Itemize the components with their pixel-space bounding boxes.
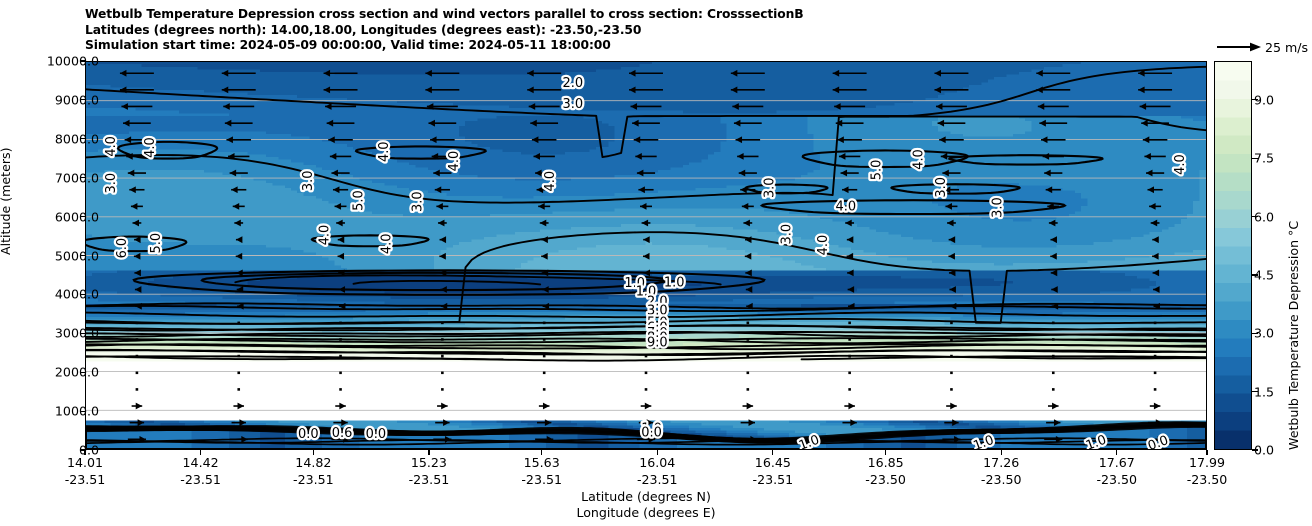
x-axis-tick: 16.04-23.51 xyxy=(637,455,678,488)
wind-vector-key: 25 m/s xyxy=(1213,38,1312,58)
x-axis-tick: 17.99-23.50 xyxy=(1187,455,1228,488)
x-axis-tick: 15.23-23.51 xyxy=(409,455,450,488)
colorbar-tick-mark xyxy=(1252,158,1258,159)
y-axis-tick-mark xyxy=(80,333,85,334)
x-axis-tick-mark xyxy=(1206,450,1207,455)
contour-label: 3.0 xyxy=(104,173,119,194)
y-axis-label: Altitude (meters) xyxy=(0,148,13,255)
x-axis-tick: 16.85-23.50 xyxy=(865,455,906,488)
x-axis-tick: 17.26-23.50 xyxy=(981,455,1022,488)
contour-label: 6.0 xyxy=(115,238,130,259)
contour-label: 4.0 xyxy=(318,225,333,246)
contour-label: 4.0 xyxy=(143,137,158,158)
x-axis-tick-mark xyxy=(772,450,773,455)
contour-label: 4.0 xyxy=(447,151,462,172)
x-axis-tick-mark xyxy=(541,450,542,455)
contour-label: 5.0 xyxy=(149,233,164,254)
colorbar-tick-mark xyxy=(1252,449,1258,450)
colorbar-tick-mark xyxy=(1252,99,1258,100)
y-axis-tick: 3000.0 xyxy=(55,326,99,341)
y-axis-tick: 9000.0 xyxy=(55,92,99,107)
contour-label: 4.0 xyxy=(911,149,926,170)
colorbar-gradient xyxy=(1215,62,1251,449)
x-axis-tick-mark xyxy=(657,450,658,455)
y-axis-tick: 2000.0 xyxy=(55,365,99,380)
contour-label: 4.0 xyxy=(104,136,119,157)
y-axis-tick-mark xyxy=(80,60,85,61)
x-axis-label-longitude: Longitude (degrees E) xyxy=(576,505,715,520)
x-axis-tick: 16.45-23.51 xyxy=(753,455,794,488)
y-axis-tick: 5000.0 xyxy=(55,248,99,263)
colorbar-label: Wetbulb Temperature Depression °C xyxy=(1286,221,1301,450)
x-axis-label-latitude: Latitude (degrees N) xyxy=(581,489,711,504)
y-axis-tick-mark xyxy=(80,372,85,373)
x-axis-tick-mark xyxy=(428,450,429,455)
cross-section-plot[interactable]: 2.02.03.03.04.04.04.04.04.04.04.04.04.04… xyxy=(85,61,1207,450)
title-line-2: Latitudes (degrees north): 14.00,18.00, … xyxy=(85,23,804,39)
x-axis-tick-mark xyxy=(84,450,85,455)
x-axis-tick: 15.63-23.51 xyxy=(521,455,562,488)
x-axis-tick-mark xyxy=(1001,450,1002,455)
contour-label: 3.0 xyxy=(779,224,794,245)
y-axis-tick: 7000.0 xyxy=(55,170,99,185)
arrow-right-icon xyxy=(1213,38,1263,58)
title-line-3: Simulation start time: 2024-05-09 00:00:… xyxy=(85,38,804,54)
x-axis-tick: 14.82-23.51 xyxy=(293,455,334,488)
contour-label: 4.0 xyxy=(836,200,857,215)
y-axis-tick: 8000.0 xyxy=(55,131,99,146)
contour-label: 4.0 xyxy=(380,234,395,255)
y-axis-tick-mark xyxy=(80,99,85,100)
y-axis-tick-mark xyxy=(80,255,85,256)
colorbar-tick-mark xyxy=(1252,391,1258,392)
contour-label: 0.0 xyxy=(366,427,387,442)
colorbar-tick-mark xyxy=(1252,333,1258,334)
contour-label: 4.0 xyxy=(816,235,831,256)
contour-label: 0.6 xyxy=(332,426,353,441)
contour-label: 3.0 xyxy=(563,97,584,112)
contour-label: 5.0 xyxy=(869,160,884,181)
title-line-1: Wetbulb Temperature Depression cross sec… xyxy=(85,7,804,23)
y-axis-tick-mark xyxy=(80,177,85,178)
contour-label: 3.0 xyxy=(990,197,1005,218)
colorbar-tick-mark xyxy=(1252,274,1258,275)
contour-label: 0.0 xyxy=(298,427,319,442)
contour-label: 4.0 xyxy=(1173,154,1188,175)
y-axis-tick: 6000.0 xyxy=(55,209,99,224)
contour-label: 4.0 xyxy=(543,171,558,192)
y-axis-tick-mark xyxy=(80,411,85,412)
x-axis-tick-mark xyxy=(1116,450,1117,455)
wind-key-label: 25 m/s xyxy=(1265,40,1308,55)
chart-title-block: Wetbulb Temperature Depression cross sec… xyxy=(85,7,804,54)
contour-label: 2.0 xyxy=(563,76,584,91)
contour-label: 9.0 xyxy=(647,335,668,350)
y-axis-tick: 4000.0 xyxy=(55,287,99,302)
y-axis-tick-mark xyxy=(80,216,85,217)
colorbar-tick-mark xyxy=(1252,216,1258,217)
colorbar[interactable] xyxy=(1214,61,1252,450)
x-axis-tick: 14.01-23.51 xyxy=(65,455,106,488)
y-axis-tick-mark xyxy=(80,294,85,295)
contour-label: 5.0 xyxy=(351,190,366,211)
x-axis-tick-mark xyxy=(200,450,201,455)
contour-label: 3.0 xyxy=(411,191,426,212)
contour-label: 3.0 xyxy=(301,171,316,192)
contour-label: 0.0 xyxy=(641,425,662,440)
x-axis-tick-mark xyxy=(313,450,314,455)
contour-label: 4.0 xyxy=(377,141,392,162)
contour-label: 3.0 xyxy=(762,177,777,198)
x-axis-tick-mark xyxy=(885,450,886,455)
x-axis-tick: 14.42-23.51 xyxy=(180,455,221,488)
y-axis-tick: 1000.0 xyxy=(55,404,99,419)
contour-label: 3.0 xyxy=(934,177,949,198)
contour-label: 1.0 xyxy=(664,275,685,290)
x-axis-tick: 17.67-23.50 xyxy=(1096,455,1137,488)
y-axis-tick-mark xyxy=(80,138,85,139)
y-axis-tick: 10000.0 xyxy=(47,54,99,69)
plot-canvas: 2.02.03.03.04.04.04.04.04.04.04.04.04.04… xyxy=(86,62,1206,449)
